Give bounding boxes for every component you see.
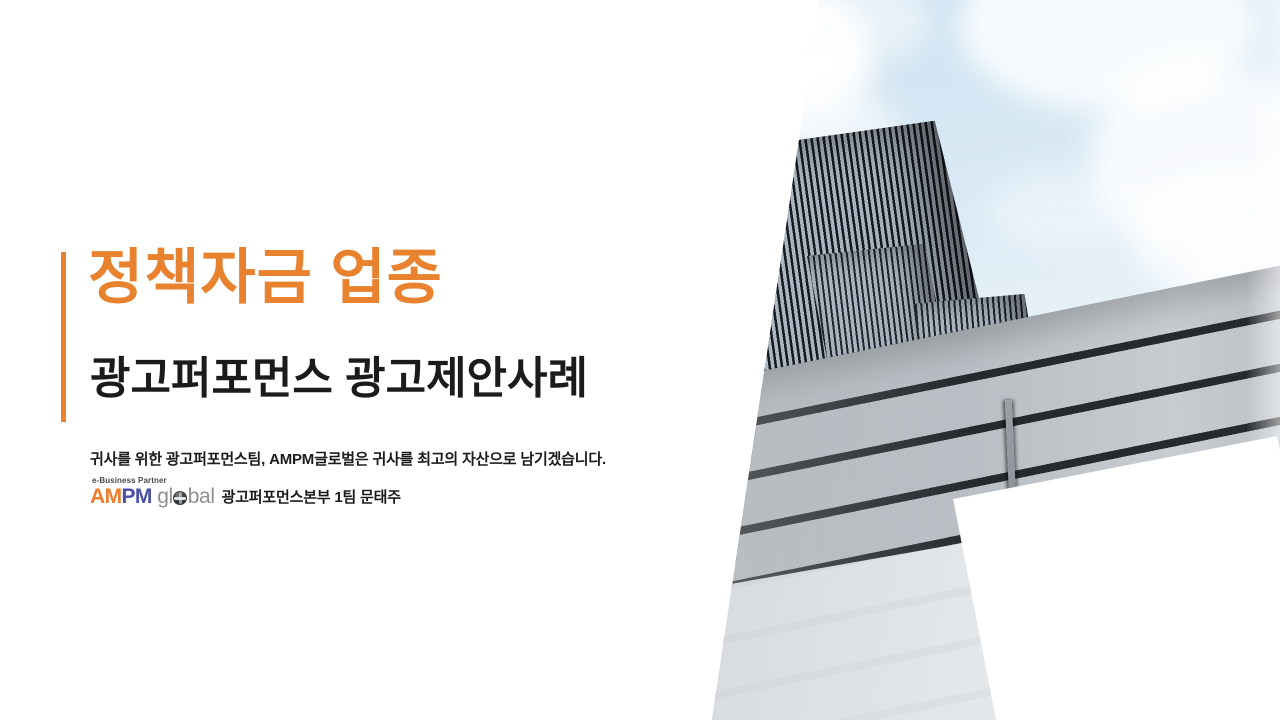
page-title: 정책자금 업종 [88,248,443,308]
logo-gl-text: gl [157,486,173,507]
logo-lockup: e-Business Partner AMPM glbal 광고퍼포먼스본부 1… [90,476,401,508]
accent-bar [61,252,66,422]
logo-am-text: AM [90,486,121,507]
globe-icon [173,491,187,505]
hero-photo [660,0,1280,720]
logo-eyebrow: e-Business Partner [92,476,167,485]
title-slide: 정책자금 업종 광고퍼포먼스 광고제안사례 귀사를 위한 광고퍼포먼스팀, AM… [0,0,1280,720]
photo-sky [660,0,1280,720]
tagline: 귀사를 위한 광고퍼포먼스팀, AMPM글로벌은 귀사를 최고의 자산으로 남기… [90,448,606,469]
logo-bal-text: bal [188,486,215,507]
cloud-shape [990,170,1130,250]
department-label: 광고퍼포먼스본부 1팀 문태주 [222,486,401,508]
edge-highlight [1246,0,1280,720]
ampm-global-logo: e-Business Partner AMPM glbal [90,476,215,508]
logo-pm-text: PM [121,486,151,507]
page-subtitle: 광고퍼포먼스 광고제안사례 [90,357,588,401]
